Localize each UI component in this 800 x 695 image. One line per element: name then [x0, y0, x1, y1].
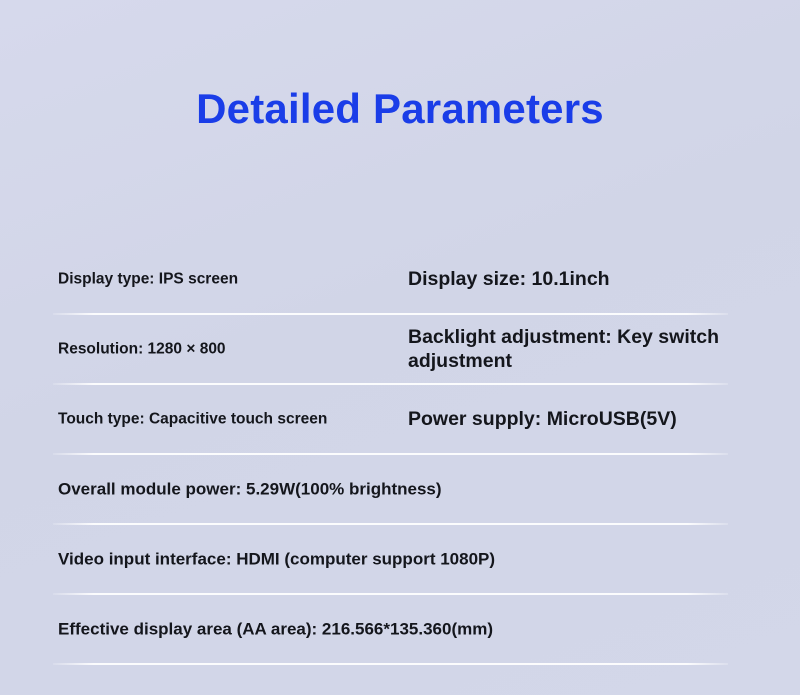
- spec-backlight-adjustment: Backlight adjustment: Key switch adjustm…: [408, 326, 738, 374]
- spec-power-supply: Power supply: MicroUSB(5V): [408, 408, 738, 432]
- parameters-page: Detailed Parameters Display type: IPS sc…: [0, 0, 800, 695]
- spec-touch-type: Touch type: Capacitive touch screen: [58, 411, 398, 430]
- table-row: Touch type: Capacitive touch screen Powe…: [0, 385, 800, 455]
- table-row: Display type: IPS screen Display size: 1…: [0, 245, 800, 315]
- spec-effective-display-area: Effective display area (AA area): 216.56…: [58, 620, 748, 641]
- spec-display-type: Display type: IPS screen: [58, 271, 398, 290]
- spec-resolution: Resolution: 1280 × 800: [58, 341, 398, 360]
- table-row: Resolution: 1280 × 800 Backlight adjustm…: [0, 315, 800, 385]
- specification-table: Display type: IPS screen Display size: 1…: [0, 245, 800, 665]
- table-row: Video input interface: HDMI (computer su…: [0, 525, 800, 595]
- spec-display-size: Display size: 10.1inch: [408, 268, 738, 292]
- row-divider: [53, 663, 728, 665]
- spec-video-input-interface: Video input interface: HDMI (computer su…: [58, 550, 748, 571]
- table-row: Effective display area (AA area): 216.56…: [0, 595, 800, 665]
- page-title: Detailed Parameters: [0, 86, 800, 132]
- table-row: Overall module power: 5.29W(100% brightn…: [0, 455, 800, 525]
- spec-overall-module-power: Overall module power: 5.29W(100% brightn…: [58, 480, 748, 501]
